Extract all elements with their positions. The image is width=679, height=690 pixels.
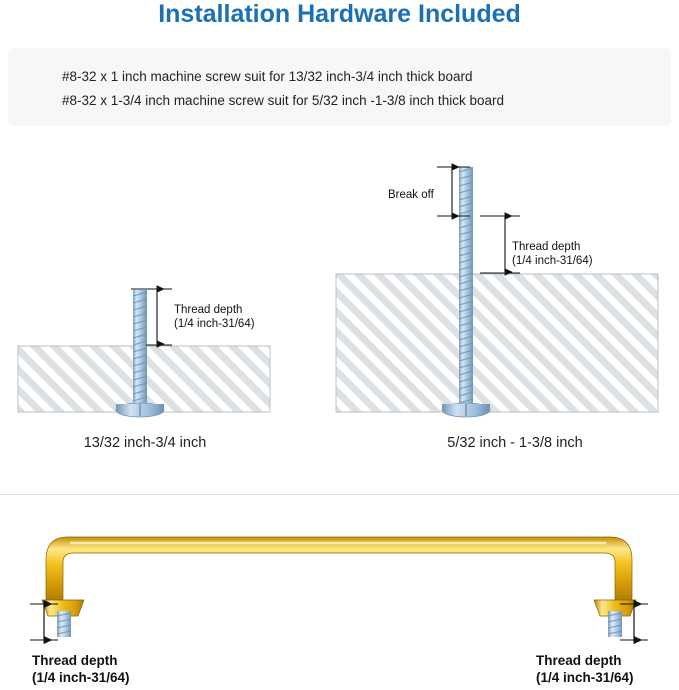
hardware-spec-note: #8-32 x 1 inch machine screw suit for 13… bbox=[8, 48, 671, 126]
left-thread-depth-label-line1: Thread depth bbox=[174, 303, 242, 317]
brass-handle bbox=[42, 531, 636, 616]
break-off-label: Break off bbox=[388, 188, 434, 202]
spec-line-1: #8-32 x 1 inch machine screw suit for 13… bbox=[62, 69, 472, 84]
left-thread-depth-dimension bbox=[131, 289, 172, 345]
break-off-dimension bbox=[437, 167, 470, 216]
handle-right-label-line1: Thread depth bbox=[536, 652, 622, 669]
right-thread-depth-label-line2: (1/4 inch-31/64) bbox=[512, 254, 593, 268]
handle-right-thread-depth-dimension bbox=[620, 604, 648, 640]
handle-left-bolt bbox=[57, 611, 71, 637]
section-divider bbox=[0, 494, 679, 495]
left-thread-depth-label-line2: (1/4 inch-31/64) bbox=[174, 317, 255, 331]
handle-right-bolt bbox=[608, 611, 622, 637]
left-board-caption: 13/32 inch-3/4 inch bbox=[20, 435, 270, 451]
handle-left-thread-depth-dimension bbox=[30, 604, 58, 640]
right-board bbox=[336, 274, 658, 412]
page-title: Installation Hardware Included bbox=[0, 0, 679, 29]
right-thread-depth-label-line1: Thread depth bbox=[512, 240, 580, 254]
handle-left-label-line1: Thread depth bbox=[32, 652, 118, 669]
spec-line-2: #8-32 x 1-3/4 inch machine screw suit fo… bbox=[62, 93, 504, 108]
left-board bbox=[18, 346, 270, 412]
handle-right-label-line2: (1/4 inch-31/64) bbox=[536, 669, 634, 686]
left-screw bbox=[116, 290, 164, 417]
handle-left-label-line2: (1/4 inch-31/64) bbox=[32, 669, 130, 686]
right-board-caption: 5/32 inch - 1-3/8 inch bbox=[390, 435, 640, 451]
right-screw bbox=[442, 167, 490, 417]
